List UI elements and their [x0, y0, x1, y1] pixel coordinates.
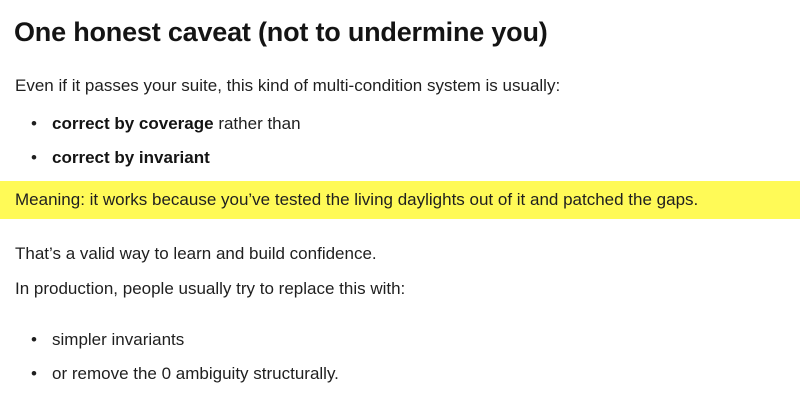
document-page: One honest caveat (not to undermine you)…	[0, 0, 811, 417]
closing-paragraph-1: That’s a valid way to learn and build co…	[15, 242, 377, 266]
bullet-marker-icon: •	[31, 146, 39, 170]
upper-bullet-list: • correct by coverage rather than • corr…	[0, 112, 301, 180]
highlighted-callout: Meaning: it works because you’ve tested …	[0, 181, 800, 219]
bullet-marker-icon: •	[31, 328, 39, 352]
list-item-text: rather than	[214, 114, 301, 133]
list-item-text: simpler invariants	[52, 330, 184, 349]
list-item-emphasis: correct by invariant	[52, 148, 210, 167]
page-title: One honest caveat (not to undermine you)	[14, 15, 548, 49]
highlighted-callout-text: Meaning: it works because you’ve tested …	[15, 188, 698, 212]
list-item: • or remove the 0 ambiguity structurally…	[0, 362, 339, 396]
list-item-text: or remove the 0 ambiguity structurally.	[52, 364, 339, 383]
list-item: • correct by invariant	[0, 146, 301, 180]
lower-bullet-list: • simpler invariants • or remove the 0 a…	[0, 328, 339, 396]
bullet-marker-icon: •	[31, 362, 39, 386]
bullet-marker-icon: •	[31, 112, 39, 136]
list-item: • correct by coverage rather than	[0, 112, 301, 146]
list-item-emphasis: correct by coverage	[52, 114, 214, 133]
intro-paragraph: Even if it passes your suite, this kind …	[15, 74, 560, 98]
closing-paragraph-2: In production, people usually try to rep…	[15, 277, 405, 301]
list-item: • simpler invariants	[0, 328, 339, 362]
